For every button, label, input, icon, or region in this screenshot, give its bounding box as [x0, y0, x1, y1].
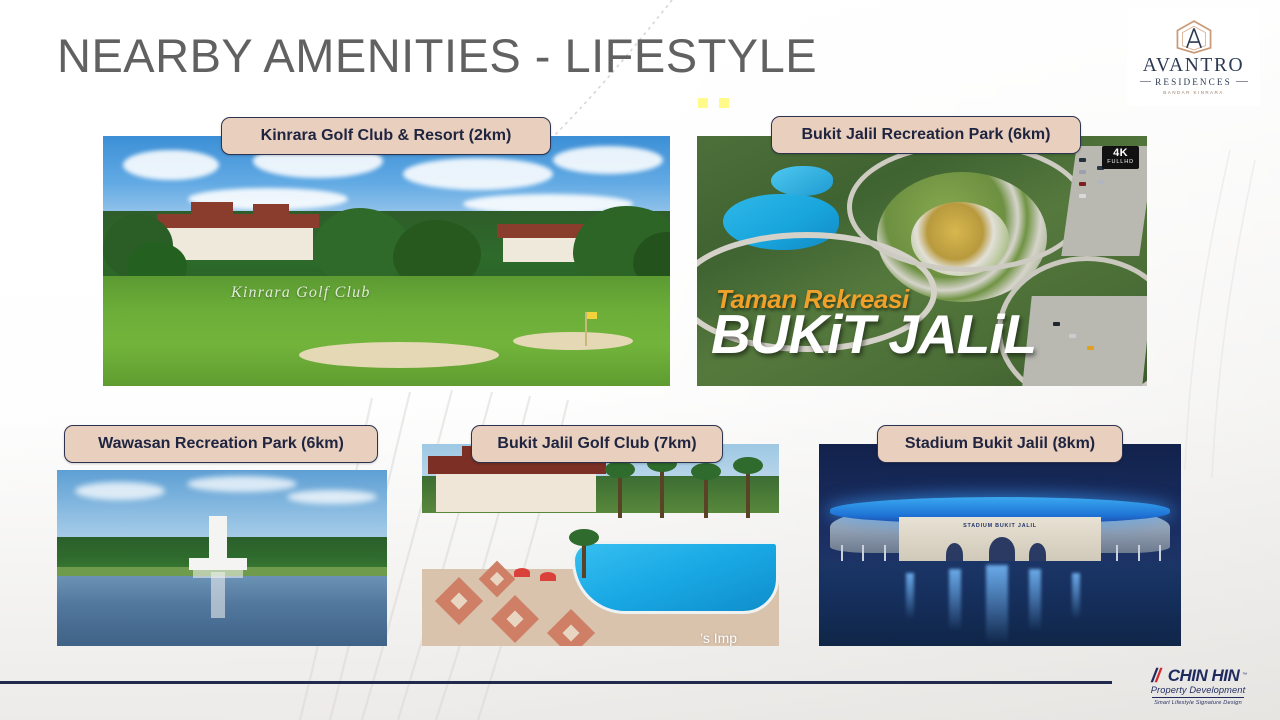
- monument-base: [189, 558, 247, 570]
- parking-lot: [1022, 296, 1147, 386]
- light-reflection: [906, 573, 914, 619]
- car: [1079, 158, 1086, 162]
- avantro-wordmark: AVANTRO: [1143, 56, 1245, 76]
- swimming-pool: [572, 541, 779, 614]
- amenity-label-text: Bukit Jalil Recreation Park (6km): [802, 126, 1051, 144]
- golf-flag: [585, 312, 587, 346]
- footer-divider: [0, 681, 1112, 684]
- avantro-brand-logo: AVANTRO RESIDENCES BANDAR KINRARA: [1127, 8, 1260, 106]
- palm-tree: [582, 540, 586, 578]
- walkway: [847, 142, 1087, 272]
- amenity-label-text: Stadium Bukit Jalil (8km): [905, 435, 1095, 453]
- photo-stadium-bukit-jalil: STADIUM BUKIT JALIL: [819, 444, 1181, 646]
- avantro-rule-left: [1140, 81, 1152, 82]
- clubhouse-body: [436, 470, 596, 512]
- chin-hin-name-row: CHIN HIN ™: [1149, 666, 1248, 684]
- cloud: [553, 146, 663, 174]
- chin-hin-tagline: Smart Lifestyle Signature Design: [1154, 700, 1242, 706]
- car: [1069, 334, 1076, 338]
- chin-hin-wordmark: CHIN HIN: [1168, 667, 1240, 684]
- amenity-label-text: Wawasan Recreation Park (6km): [98, 435, 344, 453]
- badge-resolution: 4K: [1107, 148, 1134, 159]
- car: [1079, 182, 1086, 186]
- pool-umbrella: [514, 568, 530, 577]
- palm-tree: [746, 468, 750, 518]
- chin-hin-developer-logo: CHIN HIN ™ Property Development Smart Li…: [1128, 660, 1268, 712]
- pool-umbrella: [540, 572, 556, 581]
- amenity-label-bukit-jalil-recreation-park[interactable]: Bukit Jalil Recreation Park (6km): [771, 116, 1081, 154]
- photo-bukit-jalil-recreation-park: Taman Rekreasi BUKiT JALiL 4K FULLHD: [697, 136, 1147, 386]
- light-reflection: [1029, 569, 1041, 631]
- clubhouse-tower-roof: [253, 204, 289, 216]
- light-reflection: [1072, 573, 1080, 619]
- car: [1053, 322, 1060, 326]
- palm-tree: [660, 466, 664, 518]
- chin-hin-rule: [1152, 697, 1244, 698]
- stadium-signage: STADIUM BUKIT JALIL: [963, 523, 1037, 529]
- chin-hin-trademark: ™: [1242, 672, 1247, 678]
- amenity-label-text: Kinrara Golf Club & Resort (2km): [261, 127, 512, 145]
- avantro-subtitle: RESIDENCES: [1155, 77, 1232, 87]
- page-title: NEARBY AMENITIES - LIFESTYLE: [57, 28, 817, 83]
- hexagon-a-emblem-icon: [1172, 19, 1216, 55]
- 4k-fullhd-badge: 4K FULLHD: [1102, 146, 1139, 169]
- light-reflection: [986, 565, 1008, 643]
- palm-tree: [618, 472, 622, 518]
- accent-square-right: [719, 98, 729, 108]
- water-park-pool: [771, 166, 833, 196]
- amenity-label-text: Bukit Jalil Golf Club (7km): [497, 435, 696, 453]
- slide-canvas: NEARBY AMENITIES - LIFESTYLE AVANTRO RES…: [0, 0, 1280, 720]
- amenity-label-kinrara-golf[interactable]: Kinrara Golf Club & Resort (2km): [221, 117, 551, 155]
- cloud: [403, 158, 553, 190]
- clubhouse-body: [163, 226, 313, 260]
- cloud: [123, 150, 219, 180]
- badge-quality: FULLHD: [1107, 160, 1134, 166]
- avantro-rule-right: [1236, 81, 1248, 82]
- background-text-fragment: ’s Imp: [700, 630, 737, 646]
- accent-square-left: [698, 98, 708, 108]
- photo-overlay-title: BUKiT JALiL: [711, 307, 1036, 362]
- monument-reflection: [211, 572, 225, 618]
- cloud: [287, 490, 377, 504]
- chin-hin-division: Property Development: [1151, 685, 1246, 695]
- monument-base-reflection: [193, 570, 243, 578]
- amenity-label-bukit-jalil-golf-club[interactable]: Bukit Jalil Golf Club (7km): [471, 425, 723, 463]
- clubhouse-roof: [157, 214, 319, 228]
- car: [1079, 194, 1086, 198]
- cloud: [187, 476, 297, 492]
- cloud: [75, 482, 165, 500]
- light-reflection: [949, 569, 961, 631]
- car: [1087, 346, 1094, 350]
- clubhouse-tower-roof: [191, 202, 233, 216]
- photo-bukit-jalil-golf-club: [422, 444, 779, 646]
- chin-hin-swoosh-icon: [1149, 666, 1165, 684]
- palm-tree: [704, 474, 708, 518]
- sand-bunker: [513, 332, 633, 350]
- avantro-location: BANDAR KINRARA: [1163, 90, 1223, 95]
- photo-kinrara-golf: Kinrara Golf Club: [103, 136, 670, 386]
- amenity-label-stadium-bukit-jalil[interactable]: Stadium Bukit Jalil (8km): [877, 425, 1123, 463]
- photo-wawasan-recreation-park: [57, 470, 387, 646]
- photo-watermark: Kinrara Golf Club: [231, 284, 371, 302]
- sand-bunker: [299, 342, 499, 368]
- avantro-subtitle-row: RESIDENCES: [1140, 77, 1248, 87]
- amenity-label-wawasan-recreation-park[interactable]: Wawasan Recreation Park (6km): [64, 425, 378, 463]
- car: [1079, 170, 1086, 174]
- car: [1097, 180, 1104, 184]
